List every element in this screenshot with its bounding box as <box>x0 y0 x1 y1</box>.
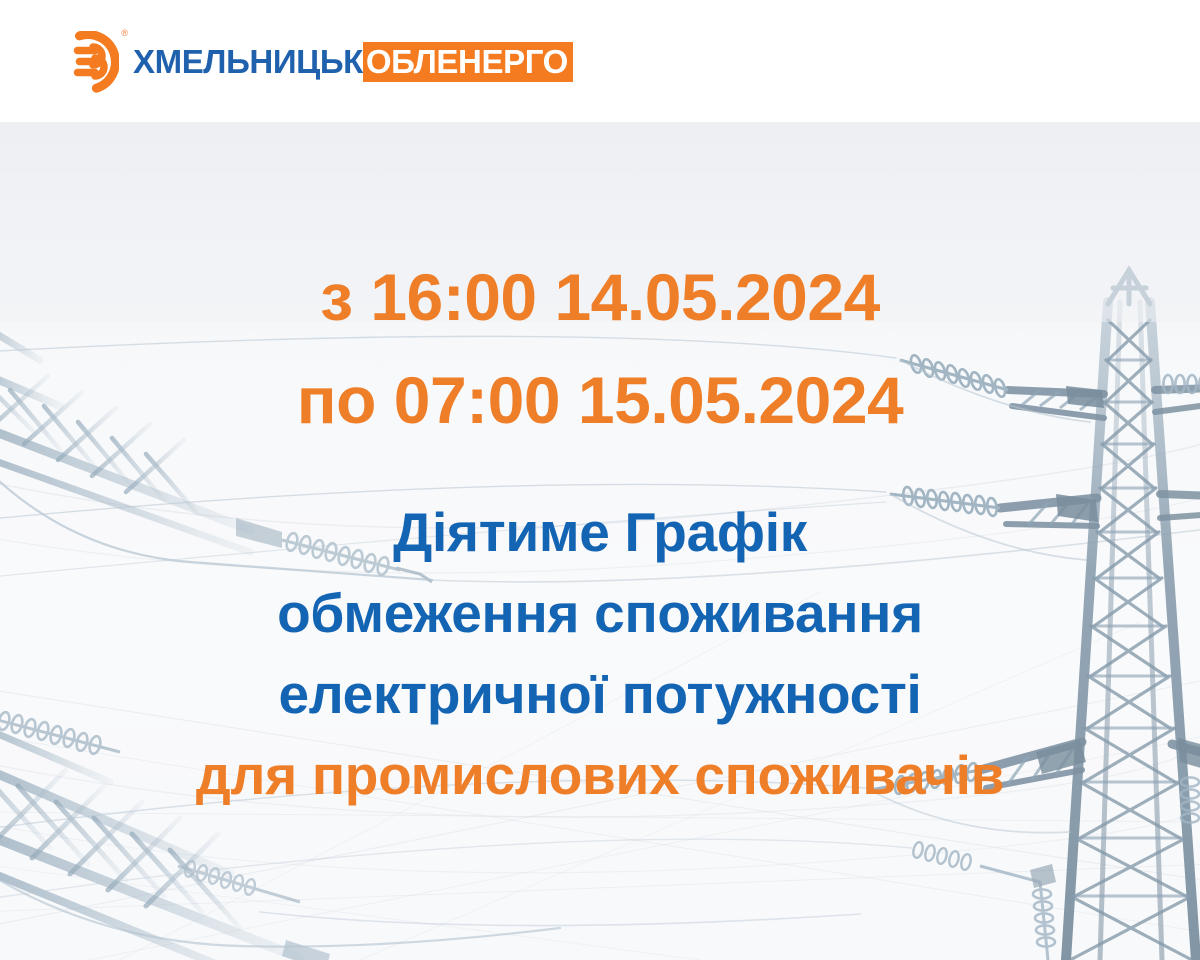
background-photo <box>0 122 1200 960</box>
brand-wordmark-blue: ХМЕЛЬНИЦЬК <box>133 42 363 82</box>
power-lines-illustration <box>0 122 1200 960</box>
brand-wordmark: ХМЕЛЬНИЦЬКОБЛЕНЕРГО <box>133 42 573 82</box>
registered-trademark-icon: ® <box>121 29 128 38</box>
brand-logo-lockup[interactable]: ® ХМЕЛЬНИЦЬКОБЛЕНЕРГО <box>57 28 573 96</box>
energy-swirl-icon <box>57 31 119 93</box>
hmelnytskoblenergo-logo-mark: ® <box>57 31 119 93</box>
header-band: ® ХМЕЛЬНИЦЬКОБЛЕНЕРГО <box>0 0 1200 122</box>
brand-wordmark-orange: ОБЛЕНЕРГО <box>363 42 573 82</box>
announcement-poster: з 16:00 14.05.2024 по 07:00 15.05.2024 Д… <box>0 0 1200 960</box>
